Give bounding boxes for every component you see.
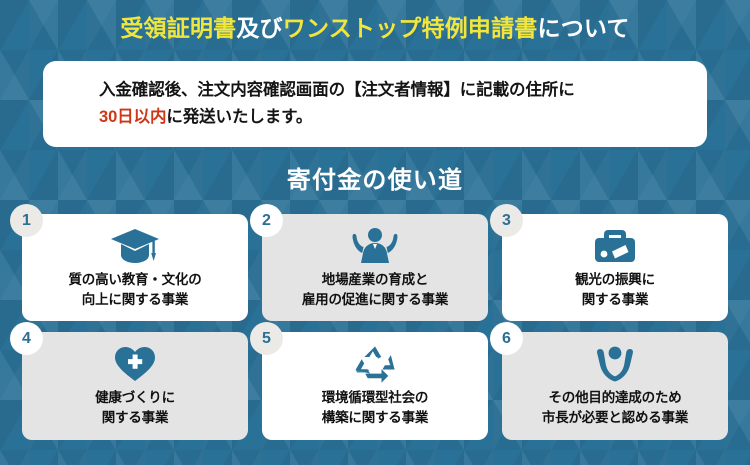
- usage-card-label-line-2: 構築に関する事業: [322, 408, 428, 428]
- furusato-usage-infographic: 受領証明書及びワンストップ特例申請書について 入金確認後、注文内容確認画面の【注…: [0, 0, 750, 465]
- usage-card-label: 環境循環型社会の 構築に関する事業: [322, 388, 428, 428]
- usage-card-label-line-1: 地場産業の育成と: [302, 270, 448, 290]
- donation-usage-card-grid: 1 質の高い教育・文化の 向上に関する事業 2: [22, 214, 728, 440]
- usage-card-label-line-1: その他目的達成のため: [542, 388, 688, 408]
- recycling-icon: [354, 344, 396, 384]
- suitcase-icon: [592, 226, 638, 266]
- usage-card-label-line-1: 質の高い教育・文化の: [69, 270, 202, 290]
- page-title: 受領証明書及びワンストップ特例申請書について: [120, 17, 629, 40]
- usage-card-label: 観光の振興に 関する事業: [575, 270, 655, 310]
- title-segment-4: について: [538, 15, 630, 41]
- usage-card-label: 地場産業の育成と 雇用の促進に関する事業: [302, 270, 448, 310]
- title-segment-3: ワンストップ特例申請書: [283, 15, 538, 41]
- notice-line-2-rest: に発送いたします。: [166, 108, 312, 126]
- graduation-cap-icon: [110, 226, 160, 266]
- header-band: 受領証明書及びワンストップ特例申請書について: [0, 0, 750, 56]
- usage-card-2[interactable]: 2 地場産業の育成と 雇用の促進に関する事業: [262, 214, 488, 321]
- usage-card-1[interactable]: 1 質の高い教育・文化の 向上に関する事業: [22, 214, 248, 321]
- section-heading-donation-usage: 寄付金の使い道: [0, 160, 750, 195]
- card-number-badge: 2: [250, 204, 283, 237]
- usage-card-label: 健康づくりに 関する事業: [95, 388, 175, 428]
- usage-card-label-line-2: 市長が必要と認める事業: [542, 408, 688, 428]
- person-raised-arms-icon: [352, 226, 398, 266]
- usage-card-label-line-2: 関する事業: [575, 290, 655, 310]
- person-open-arms-icon: [596, 344, 634, 384]
- usage-card-5[interactable]: 5 環境循環型社会の 構築に関する事業: [262, 332, 488, 440]
- usage-card-4[interactable]: 4 健康づくりに 関する事業: [22, 332, 248, 440]
- usage-card-label-line-2: 向上に関する事業: [69, 290, 202, 310]
- usage-card-label-line-1: 健康づくりに: [95, 388, 175, 408]
- title-segment-2: 及び: [236, 15, 282, 41]
- card-number-badge: 3: [490, 204, 523, 237]
- usage-card-3[interactable]: 3 観光の振興に 関する事業: [502, 214, 728, 321]
- notice-line-2: 30日以内に発送いたします。: [99, 104, 707, 131]
- usage-card-label-line-2: 関する事業: [95, 408, 175, 428]
- usage-card-label-line-1: 環境循環型社会の: [322, 388, 428, 408]
- usage-card-label-line-2: 雇用の促進に関する事業: [302, 290, 448, 310]
- shipping-notice-card: 入金確認後、注文内容確認画面の【注文者情報】に記載の住所に 30日以内に発送いた…: [43, 61, 707, 147]
- notice-line-1: 入金確認後、注文内容確認画面の【注文者情報】に記載の住所に: [99, 77, 707, 104]
- card-number-badge: 4: [10, 322, 43, 355]
- usage-card-label: その他目的達成のため 市長が必要と認める事業: [542, 388, 688, 428]
- notice-highlight-30days: 30日以内: [99, 108, 166, 126]
- heart-plus-icon: [113, 344, 157, 384]
- title-segment-1: 受領証明書: [120, 15, 236, 41]
- usage-card-label: 質の高い教育・文化の 向上に関する事業: [69, 270, 202, 310]
- usage-card-label-line-1: 観光の振興に: [575, 270, 655, 290]
- card-number-badge: 1: [10, 204, 43, 237]
- card-number-badge: 5: [250, 322, 283, 355]
- usage-card-6[interactable]: 6 その他目的達成のため 市長が必要と認める事業: [502, 332, 728, 440]
- card-number-badge: 6: [490, 322, 523, 355]
